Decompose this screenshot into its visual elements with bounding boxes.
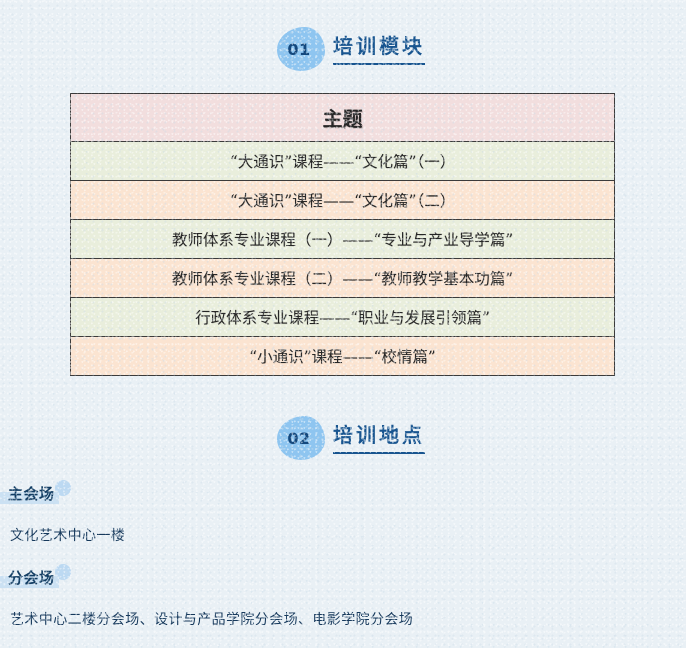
section-heading-02: 02 培训地点 <box>277 416 425 460</box>
venue-text-branch: 艺术中心二楼分会场、设计与产品学院分会场、电影学院分会场 <box>10 609 413 629</box>
table-cell-topic: “大通识”课程——“文化篇”（一） <box>71 142 615 181</box>
table-cell-topic: 行政体系专业课程——“职业与发展引领篇” <box>71 298 615 337</box>
table-row: “大通识”课程——“文化篇”（二） <box>71 181 615 220</box>
table-header-cell-topic: 主题 <box>71 94 615 142</box>
venue-label-main: 主会场 <box>0 484 61 504</box>
section-heading-01: 01 培训模块 <box>277 27 425 71</box>
table-row: “大通识”课程——“文化篇”（一） <box>71 142 615 181</box>
training-module-table: 主题 “大通识”课程——“文化篇”（一） “大通识”课程——“文化篇”（二） 教… <box>70 93 615 376</box>
section-number-badge-01: 01 <box>277 27 325 71</box>
venue-block-main: 主会场 <box>0 484 61 504</box>
section-number-label-01: 01 <box>277 27 321 71</box>
venue-text-main: 文化艺术中心一楼 <box>10 525 125 545</box>
table-cell-topic: “小通识”课程——“校情篇” <box>71 337 615 376</box>
section-title-02: 培训地点 <box>333 423 425 454</box>
table-row: “小通识”课程——“校情篇” <box>71 337 615 376</box>
table-row: 行政体系专业课程——“职业与发展引领篇” <box>71 298 615 337</box>
table-row: 教师体系专业课程（二）——“教师教学基本功篇” <box>71 259 615 298</box>
section-number-label-02: 02 <box>277 416 321 460</box>
table-header-row: 主题 <box>71 94 615 142</box>
venue-block-branch: 分会场 <box>0 568 61 588</box>
venue-label-branch: 分会场 <box>0 568 61 588</box>
section-number-badge-02: 02 <box>277 416 325 460</box>
table-row: 教师体系专业课程（一）——“专业与产业导学篇” <box>71 220 615 259</box>
table-cell-topic: 教师体系专业课程（一）——“专业与产业导学篇” <box>71 220 615 259</box>
table-cell-topic: 教师体系专业课程（二）——“教师教学基本功篇” <box>71 259 615 298</box>
section-title-01: 培训模块 <box>333 34 425 65</box>
table-cell-topic: “大通识”课程——“文化篇”（二） <box>71 181 615 220</box>
